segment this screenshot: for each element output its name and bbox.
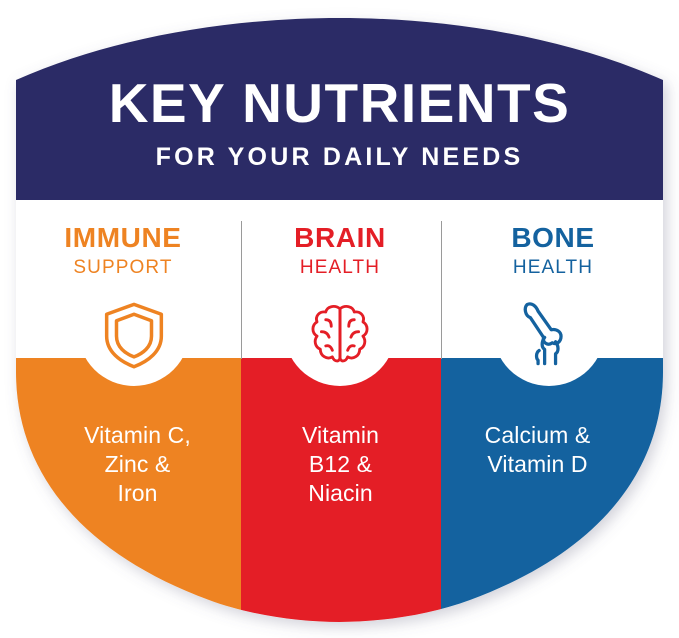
column-bone: BONE HEALTH <box>450 222 656 280</box>
panel-immune-line2: Zinc & <box>45 450 230 479</box>
column-brain: BRAIN HEALTH <box>238 222 442 280</box>
panel-immune-line3: Iron <box>45 479 230 508</box>
panel-brain-line1: Vitamin <box>248 421 433 450</box>
panel-immune-line1: Vitamin C, <box>45 421 230 450</box>
panel-brain-text: Vitamin B12 & Niacin <box>248 421 433 508</box>
panel-bone-line2: Vitamin D <box>440 450 635 479</box>
page-title: KEY NUTRIENTS <box>0 73 679 133</box>
panel-bone <box>441 358 679 638</box>
panel-bone-line1: Calcium & <box>440 421 635 450</box>
shield-icon <box>99 300 169 370</box>
column-immune-subheading: SUPPORT <box>20 256 226 280</box>
column-bone-heading: BONE <box>450 222 656 254</box>
panel-brain-line2: B12 & <box>248 450 433 479</box>
shield-infographic: KEY NUTRIENTS FOR YOUR DAILY NEEDS IMMUN… <box>0 0 679 638</box>
panel-immune-text: Vitamin C, Zinc & Iron <box>45 421 230 508</box>
column-brain-subheading: HEALTH <box>238 256 442 280</box>
column-bone-subheading: HEALTH <box>450 256 656 280</box>
page-subtitle: FOR YOUR DAILY NEEDS <box>0 143 679 171</box>
panel-brain-line3: Niacin <box>248 479 433 508</box>
column-immune-heading: IMMUNE <box>20 222 226 254</box>
column-brain-heading: BRAIN <box>238 222 442 254</box>
brain-icon <box>305 300 375 370</box>
panel-bone-text: Calcium & Vitamin D <box>440 421 635 479</box>
bone-joint-icon <box>514 298 584 368</box>
column-immune: IMMUNE SUPPORT <box>20 222 226 280</box>
